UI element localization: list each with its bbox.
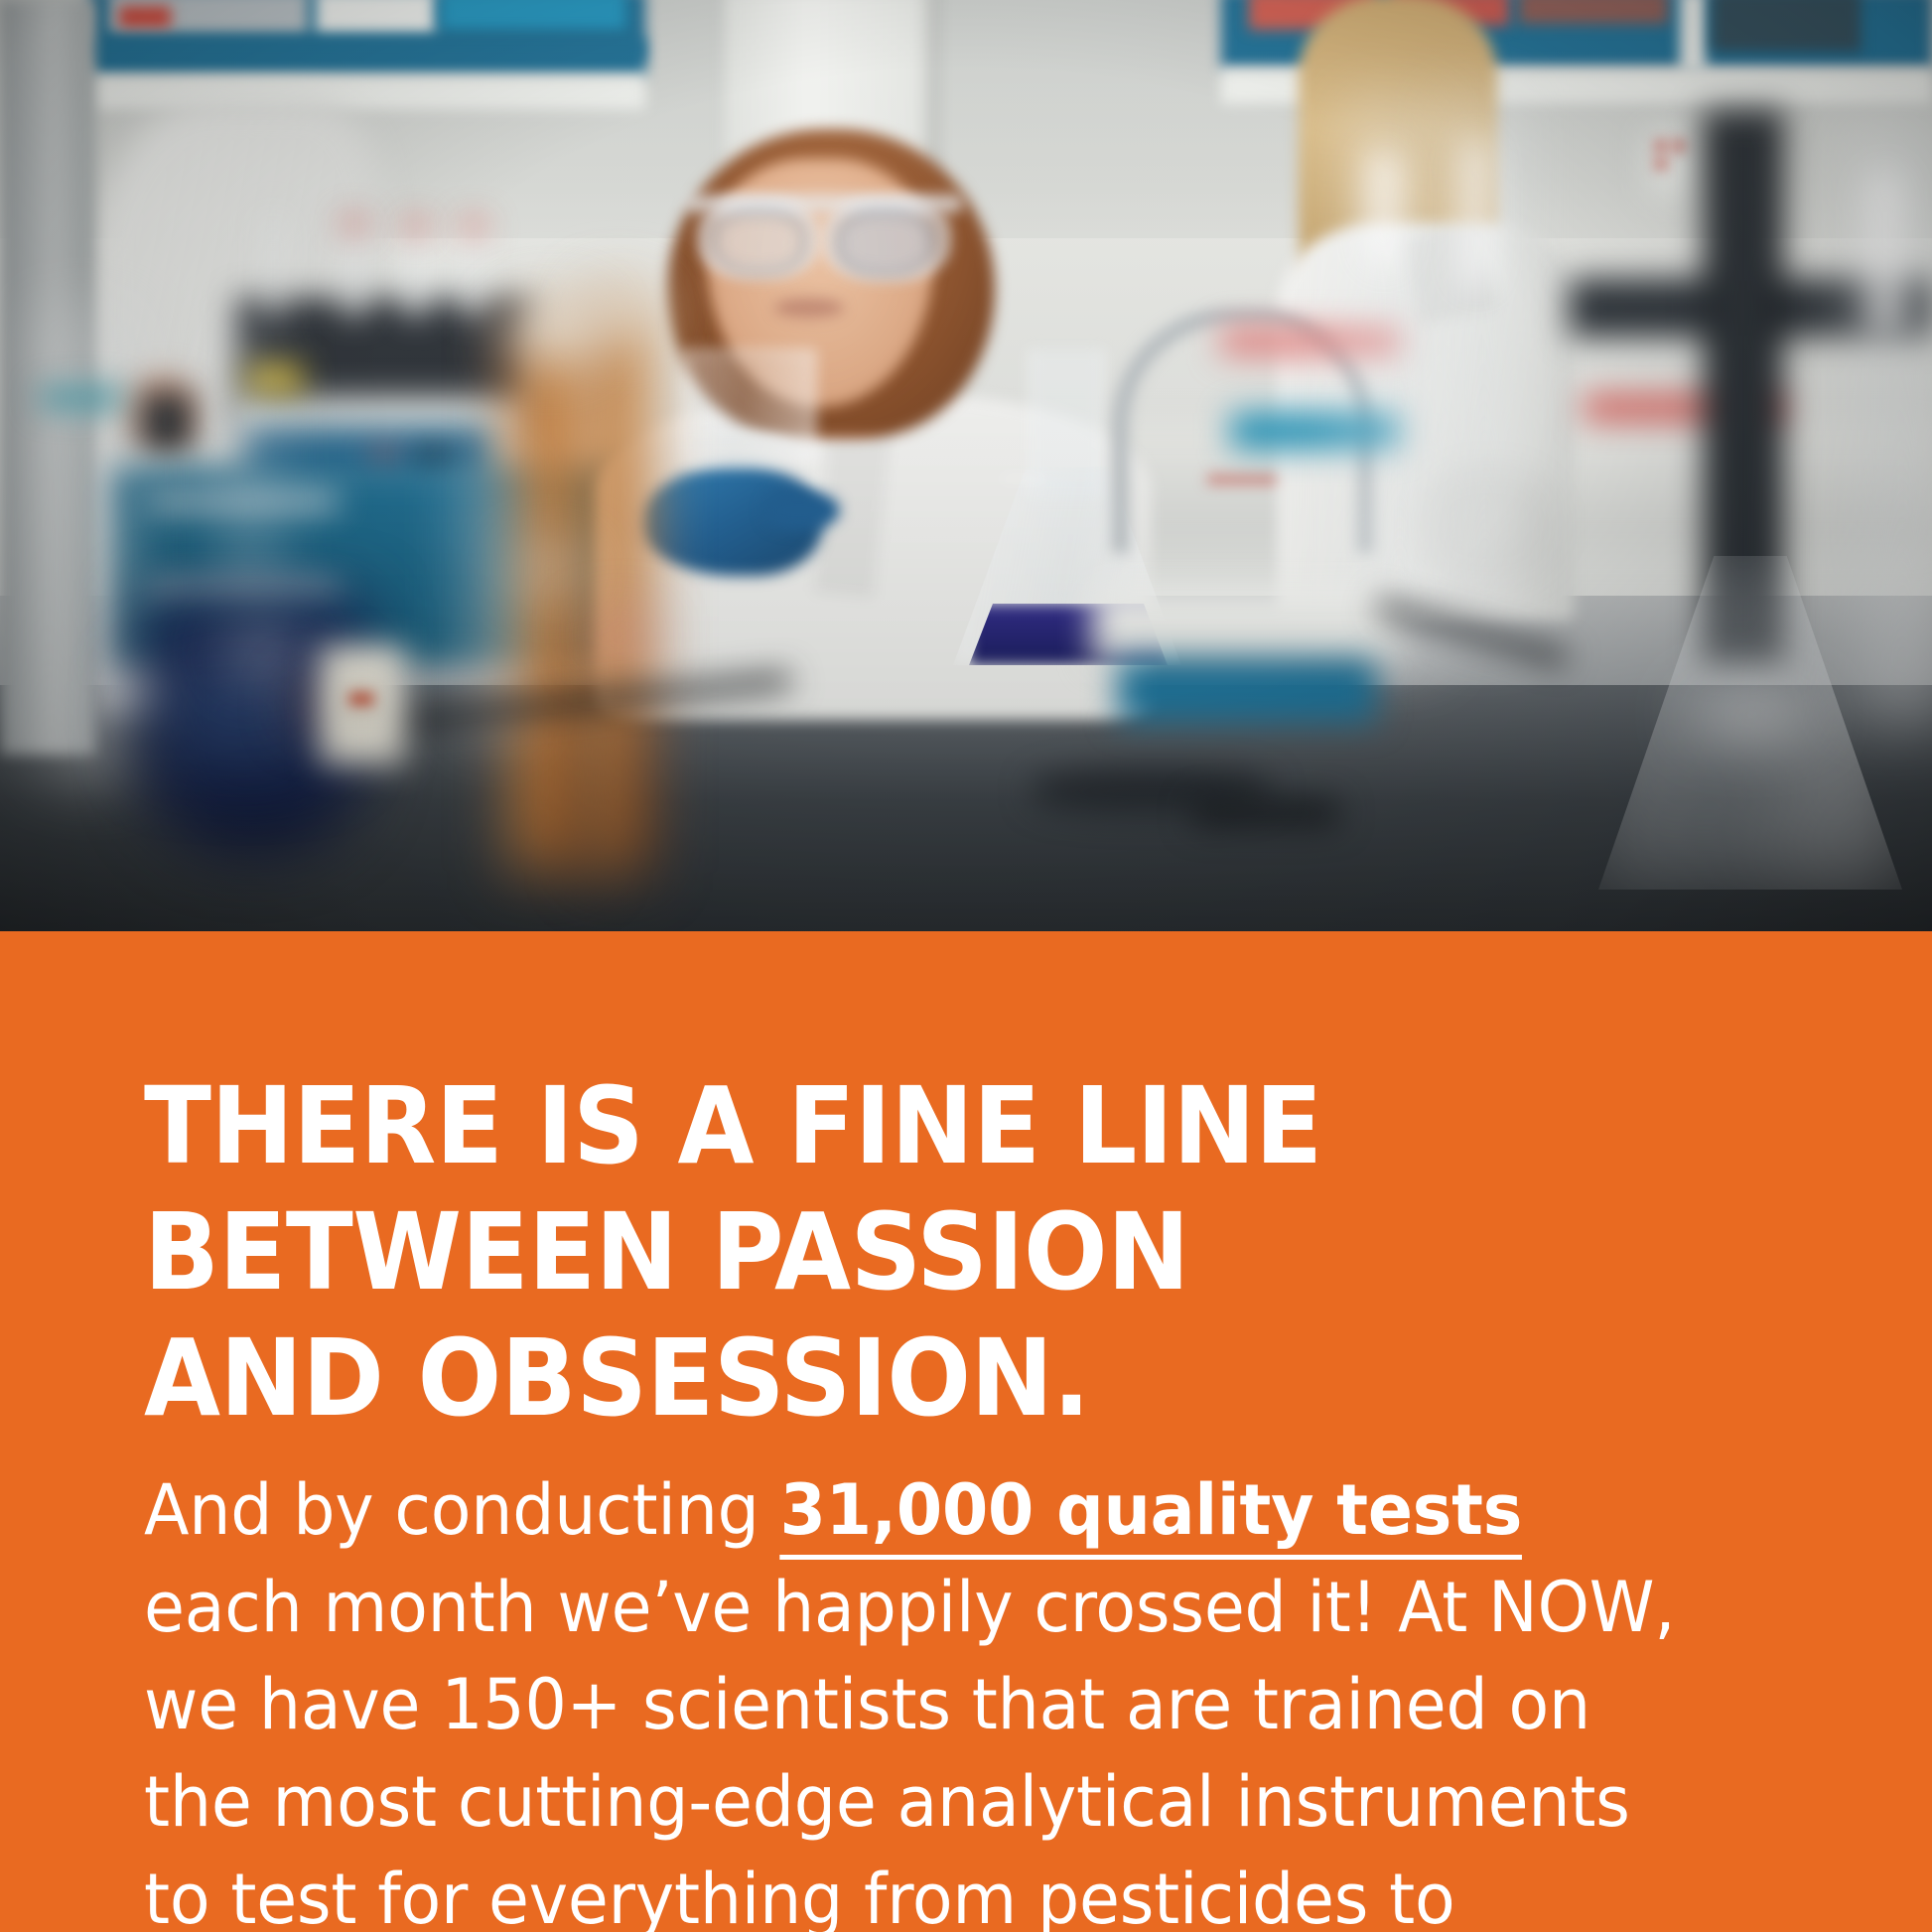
wall-outlet-indicator: [349, 693, 373, 705]
center-scientist-mouth: [774, 298, 844, 318]
body-text-before: And by conducting: [144, 1469, 780, 1551]
sample-vial-cap-2: [344, 218, 365, 230]
cabinet-contents-right-c: [1519, 0, 1668, 24]
sample-vial-cap-3: [405, 220, 427, 232]
cabinet-teal-panel-left: [441, 0, 625, 30]
foreground-flask-right-highlight: [1688, 695, 1817, 735]
amber-column-white-band: [516, 556, 586, 582]
sample-vial-1: [266, 216, 280, 316]
beaker: [681, 349, 816, 465]
sample-vial-3: [407, 222, 425, 316]
eyeglasses-left-lens: [713, 210, 806, 274]
sample-vial-4: [465, 222, 483, 316]
quality-tests-highlight: 31,000 quality tests: [780, 1469, 1523, 1560]
cabinet-white-panel-left: [316, 0, 435, 34]
left-scientist-device: [139, 392, 193, 452]
erlenmeyer-flask-graduation: [1001, 477, 1044, 481]
amber-glass-column-a: [512, 316, 588, 872]
amber-column-pink-band: [592, 627, 647, 643]
glass-column-left-teal-band: [42, 389, 121, 407]
amber-column-cap-a: [508, 300, 594, 357]
amber-column-cap-b: [586, 288, 655, 334]
flask-500-highlight: [226, 635, 298, 669]
orange-content-panel: THERE IS A FINE LINE BETWEEN PASSION AND…: [0, 931, 1932, 1932]
volumetric-flask-500-label: 500: [157, 685, 316, 747]
body-paragraph: And by conducting 31,000 quality tests e…: [144, 1461, 1691, 1932]
foreground-glass-tube-center: [465, 467, 516, 731]
back-instrument-red-led: [375, 452, 395, 468]
sample-vial-2: [345, 220, 363, 316]
analytical-balance-base: [1118, 659, 1376, 723]
bench-tool-dark: [1191, 800, 1340, 826]
cabinet-glass-right: [1712, 0, 1861, 52]
wall-switch-indicator-a: [1656, 141, 1666, 151]
body-text-after: each month we’ve happily crossed it! At …: [144, 1567, 1675, 1932]
wall-switch-indicator-b: [1674, 141, 1684, 151]
wall-switch-indicator-c: [1656, 159, 1666, 169]
eyeglasses-right-lens: [836, 210, 933, 276]
page-title: THERE IS A FINE LINE BETWEEN PASSION AND…: [144, 1064, 1621, 1443]
cabinet-bottom-rail-left: [89, 38, 645, 75]
glass-highlight-right-a: [1364, 149, 1404, 268]
glass-highlight-right-c: [1864, 169, 1906, 338]
glove-finger: [764, 490, 840, 530]
cabinet-divider-right: [1680, 0, 1706, 73]
shelf-ledge-left: [89, 75, 645, 109]
laboratory-photo: 500: [0, 0, 1932, 931]
promo-canvas: 500 THERE IS A FINE: [0, 0, 1932, 1932]
volumetric-flask-neck: [220, 328, 272, 616]
analytical-balance-tray: [1092, 588, 1400, 663]
cabinet-red-box-left: [119, 6, 171, 28]
foreground-glass-column-left: [36, 308, 133, 780]
glass-highlight-right-b: [1459, 139, 1493, 288]
amber-glass-column-b: [590, 298, 647, 874]
sample-vial-cap-4: [463, 220, 484, 232]
